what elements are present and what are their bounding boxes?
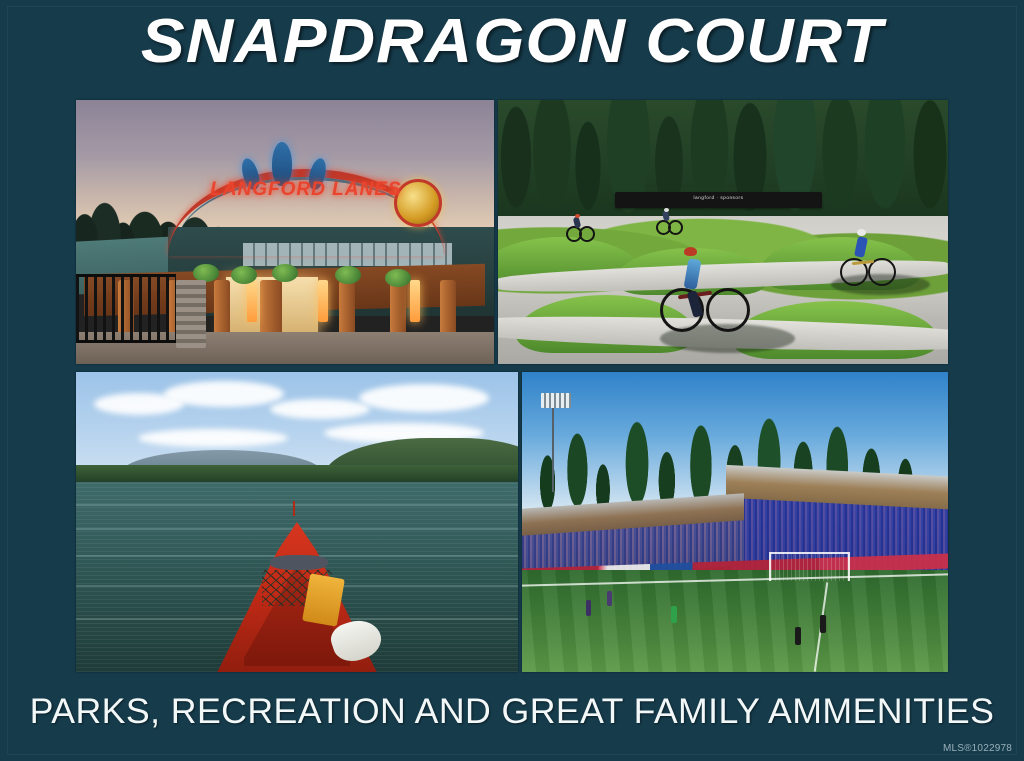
photo-soccer-stadium [522,372,948,672]
wall-light [410,280,420,322]
stone-column [176,280,205,349]
photo-kayak-lake [76,372,518,672]
langford-lanes-sign-text: LANGFORD LANES [176,179,435,201]
player [795,627,801,645]
sponsor-banner: langford · sponsors [615,192,822,208]
cyclist-distant [566,216,592,238]
sponsor-banner-text: langford · sponsors [615,192,822,204]
goalkeeper [671,606,677,623]
water-ripple [76,504,518,506]
cyclist-distant [656,211,680,231]
cyclist-right [840,221,896,300]
soccer-pitch [522,570,948,672]
cloud [359,384,489,412]
slide-canvas: SNAPDRAGON COURT LANGFORD LANES [0,0,1024,761]
shoreline-treeline [76,465,518,483]
cloud [138,429,288,447]
photo-pump-track: langford · sponsors [498,100,948,364]
floodlight-head [541,393,571,408]
photo-pump-track-content: langford · sponsors [498,100,948,364]
hanging-flower-basket [231,266,257,284]
cloud [270,399,370,419]
photo-langford-lanes: LANGFORD LANES [76,100,494,364]
photo-kayak-lake-content [76,372,518,672]
photo-langford-lanes-content: LANGFORD LANES [76,100,494,364]
kayak-bow-tip [293,501,295,516]
player [820,615,826,633]
rider-torso [683,258,701,290]
page-title: SNAPDRAGON COURT [0,8,1024,76]
hanging-flower-basket [193,264,219,282]
deck-pad [270,555,327,570]
cloud [164,381,284,407]
bike-wheel [706,288,750,332]
player [607,591,612,606]
wall-light [318,280,328,322]
floodlight-mast [552,396,554,492]
rider-helmet [684,247,697,256]
mls-watermark: MLS®1022978 [943,743,1012,754]
hanging-flower-basket [272,264,298,282]
photo-soccer-stadium-content [522,372,948,672]
iron-gate [76,274,176,343]
slide-caption: PARKS, RECREATION AND GREAT FAMILY AMMEN… [0,692,1024,732]
cyclist-foreground [660,237,750,358]
player [586,600,591,616]
wall-light [247,280,257,322]
